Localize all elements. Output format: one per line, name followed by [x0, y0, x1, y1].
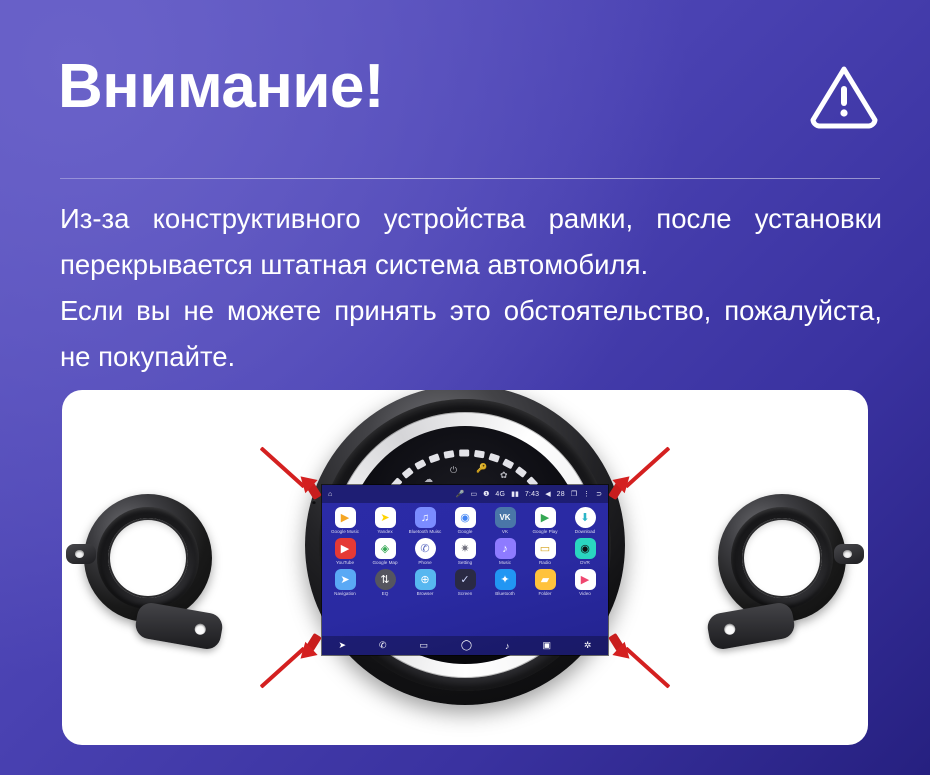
microphone-icon[interactable]: 🎤 [456, 490, 465, 498]
product-image-card: ◑ ☁ ⏻ 🔑 ✿ ↺ ◐ [62, 390, 868, 745]
screen-clock-icon: ✓ [455, 569, 476, 590]
browser-globe-icon: ⊕ [415, 569, 436, 590]
vent-mount-tab [834, 544, 864, 564]
word: можете [227, 288, 321, 334]
app-label: Radio [528, 560, 562, 566]
recent-apps-icon[interactable]: ❐ [571, 490, 577, 498]
warning-line-3: Если вы не можете принять это обстоятель… [60, 288, 882, 334]
app-label: Google Map [368, 560, 402, 566]
overflow-menu-icon[interactable]: ⋮ [583, 490, 590, 498]
pointer-arrow-top-left [259, 438, 329, 508]
clock-label: 7:43 [525, 491, 539, 498]
battery-icon: ▭ [470, 490, 477, 498]
volume-level: 28 [557, 491, 565, 498]
video-icon[interactable]: ▣ [542, 640, 551, 651]
page-title: Внимание! [58, 56, 384, 118]
app-tile[interactable]: ✓ Screen [448, 569, 482, 597]
bluetooth-icon: ✦ [495, 569, 516, 590]
google-play-icon: ▶ [535, 507, 556, 528]
svg-text:☁: ☁ [424, 474, 433, 484]
warning-line-4: не покупайте. [60, 334, 882, 380]
folder-icon: ▰ [535, 569, 556, 590]
app-label: Bluetooth Muisc [408, 529, 442, 535]
youtube-icon: ▶ [335, 538, 356, 559]
android-status-bar: ⌂ 🎤 ▭ ❶ 4G ▮▮ 7:43 ◀ 28 ❐ ⋮ ⊃ [322, 485, 608, 503]
app-row: ▶ YouTube ◈ Google Map ✆ Phone ✷ Setting [328, 538, 602, 566]
equalizer-icon: ⇅ [375, 569, 396, 590]
warning-paragraph: Из-за конструктивного устройства рамки, … [60, 196, 882, 380]
app-tile[interactable]: ▶ Google Play [528, 507, 562, 535]
word: Из-за [60, 196, 129, 242]
video-play-icon: ▶ [575, 569, 596, 590]
phone-icon: ✆ [415, 538, 436, 559]
app-label: Video [568, 591, 602, 597]
app-label: Folder [528, 591, 562, 597]
app-tile[interactable]: ⇅ EQ [368, 569, 402, 597]
dvr-camera-icon: ◉ [575, 538, 596, 559]
word: не [184, 288, 214, 334]
warning-line-1: Из-за конструктивного устройства рамки, … [60, 196, 882, 242]
app-label: DVR [568, 560, 602, 566]
app-tile[interactable]: ✆ Phone [408, 538, 442, 566]
word: пожалуйста, [724, 288, 882, 334]
app-tile[interactable]: VK VK [488, 507, 522, 535]
app-tile[interactable]: ➤ Navigation [328, 569, 362, 597]
app-tile[interactable]: ➤ Yandex [368, 507, 402, 535]
pointer-arrow-bottom-left [259, 627, 329, 697]
app-tile[interactable]: ♫ Bluetooth Muisc [408, 507, 442, 535]
word: после [656, 196, 731, 242]
android-head-unit-screen[interactable]: ⌂ 🎤 ▭ ❶ 4G ▮▮ 7:43 ◀ 28 ❐ ⋮ ⊃ [322, 485, 608, 655]
app-tile[interactable]: ▶ YouTube [328, 538, 362, 566]
app-label: Bluetooth [488, 591, 522, 597]
warning-line-2: перекрывается штатная система автомобиля… [60, 242, 882, 288]
word: вы [136, 288, 170, 334]
app-label: Music [488, 560, 522, 566]
app-label: Navigation [328, 591, 362, 597]
signal-bars-icon: ▮▮ [511, 490, 519, 498]
bottom-dock: ➤ ✆ ▭ ◯ ♪ ▣ ✲ [322, 636, 608, 655]
svg-text:✿: ✿ [500, 470, 508, 480]
word: рамки, [549, 196, 634, 242]
vent-inner-ring [108, 518, 188, 598]
app-tile[interactable]: ✷ Setting [448, 538, 482, 566]
app-tile[interactable]: ▶ Google Music [328, 507, 362, 535]
app-tile[interactable]: ⬇ Download [568, 507, 602, 535]
settings-gear-icon: ✷ [455, 538, 476, 559]
app-label: Browser [408, 591, 442, 597]
app-tile[interactable]: ▶ Video [568, 569, 602, 597]
download-icon: ⬇ [575, 507, 596, 528]
app-label: VK [488, 529, 522, 535]
app-tile[interactable]: ◈ Google Map [368, 538, 402, 566]
word: Если [60, 288, 123, 334]
app-label: Google Music [328, 529, 362, 535]
header-divider [60, 178, 880, 179]
svg-text:⏻: ⏻ [450, 465, 457, 475]
vk-icon: VK [495, 507, 516, 528]
network-label: 4G [495, 491, 505, 498]
app-label: Google [448, 529, 482, 535]
google-music-icon: ▶ [335, 507, 356, 528]
vent-mount-tab [66, 544, 96, 564]
radio-icon[interactable]: ▭ [419, 640, 428, 651]
word: это [450, 288, 491, 334]
app-label: EQ [368, 591, 402, 597]
pointer-arrow-top-right [601, 438, 671, 508]
music-note-icon[interactable]: ♪ [505, 641, 510, 651]
word: обстоятельство, [504, 288, 712, 334]
app-label: Google Play [528, 529, 562, 535]
navigation-arrow-icon: ➤ [335, 569, 356, 590]
word: конструктивного [153, 196, 361, 242]
word: устройства [384, 196, 526, 242]
google-maps-icon: ◈ [375, 538, 396, 559]
app-tile[interactable]: ◉ Google [448, 507, 482, 535]
music-icon: ♪ [495, 538, 516, 559]
word: установки [755, 196, 882, 242]
app-tile[interactable]: ▭ Radio [528, 538, 562, 566]
app-label: Phone [408, 560, 442, 566]
bluetooth-icon[interactable]: ❶ [483, 490, 489, 498]
chrome-icon: ◉ [455, 507, 476, 528]
word: принять [334, 288, 437, 334]
app-tile[interactable]: ⊕ Browser [408, 569, 442, 597]
yandex-navigator-icon: ➤ [375, 507, 396, 528]
app-tile[interactable]: ▰ Folder [528, 569, 562, 597]
app-row: ▶ Google Music ➤ Yandex ♫ Bluetooth Muis… [328, 507, 602, 535]
app-label: Setting [448, 560, 482, 566]
app-tile[interactable]: ◉ DVR [568, 538, 602, 566]
svg-text:🔑: 🔑 [476, 462, 487, 474]
app-row: ➤ Navigation ⇅ EQ ⊕ Browser ✓ Screen [328, 569, 602, 597]
bluetooth-music-icon: ♫ [415, 507, 436, 528]
vent-inner-ring [742, 518, 822, 598]
app-label: Yandex [368, 529, 402, 535]
home-circle-icon[interactable]: ◯ [461, 640, 472, 651]
radio-icon: ▭ [535, 538, 556, 559]
app-grid: ▶ Google Music ➤ Yandex ♫ Bluetooth Muis… [322, 503, 608, 597]
app-label: Screen [448, 591, 482, 597]
phone-icon[interactable]: ✆ [379, 640, 387, 651]
warning-triangle-icon [808, 62, 880, 130]
app-label: YouTube [328, 560, 362, 566]
settings-gear-icon[interactable]: ✲ [584, 640, 592, 651]
product-photo: ◑ ☁ ⏻ 🔑 ✿ ↺ ◐ [62, 390, 868, 745]
app-tile[interactable]: ✦ Bluetooth [488, 569, 522, 597]
app-tile[interactable]: ♪ Music [488, 538, 522, 566]
navigation-arrow-icon[interactable]: ➤ [338, 640, 346, 651]
app-label: Download [568, 529, 602, 535]
volume-icon[interactable]: ◀ [545, 490, 550, 498]
header: Внимание! [0, 0, 930, 178]
pointer-arrow-bottom-right [601, 627, 671, 697]
